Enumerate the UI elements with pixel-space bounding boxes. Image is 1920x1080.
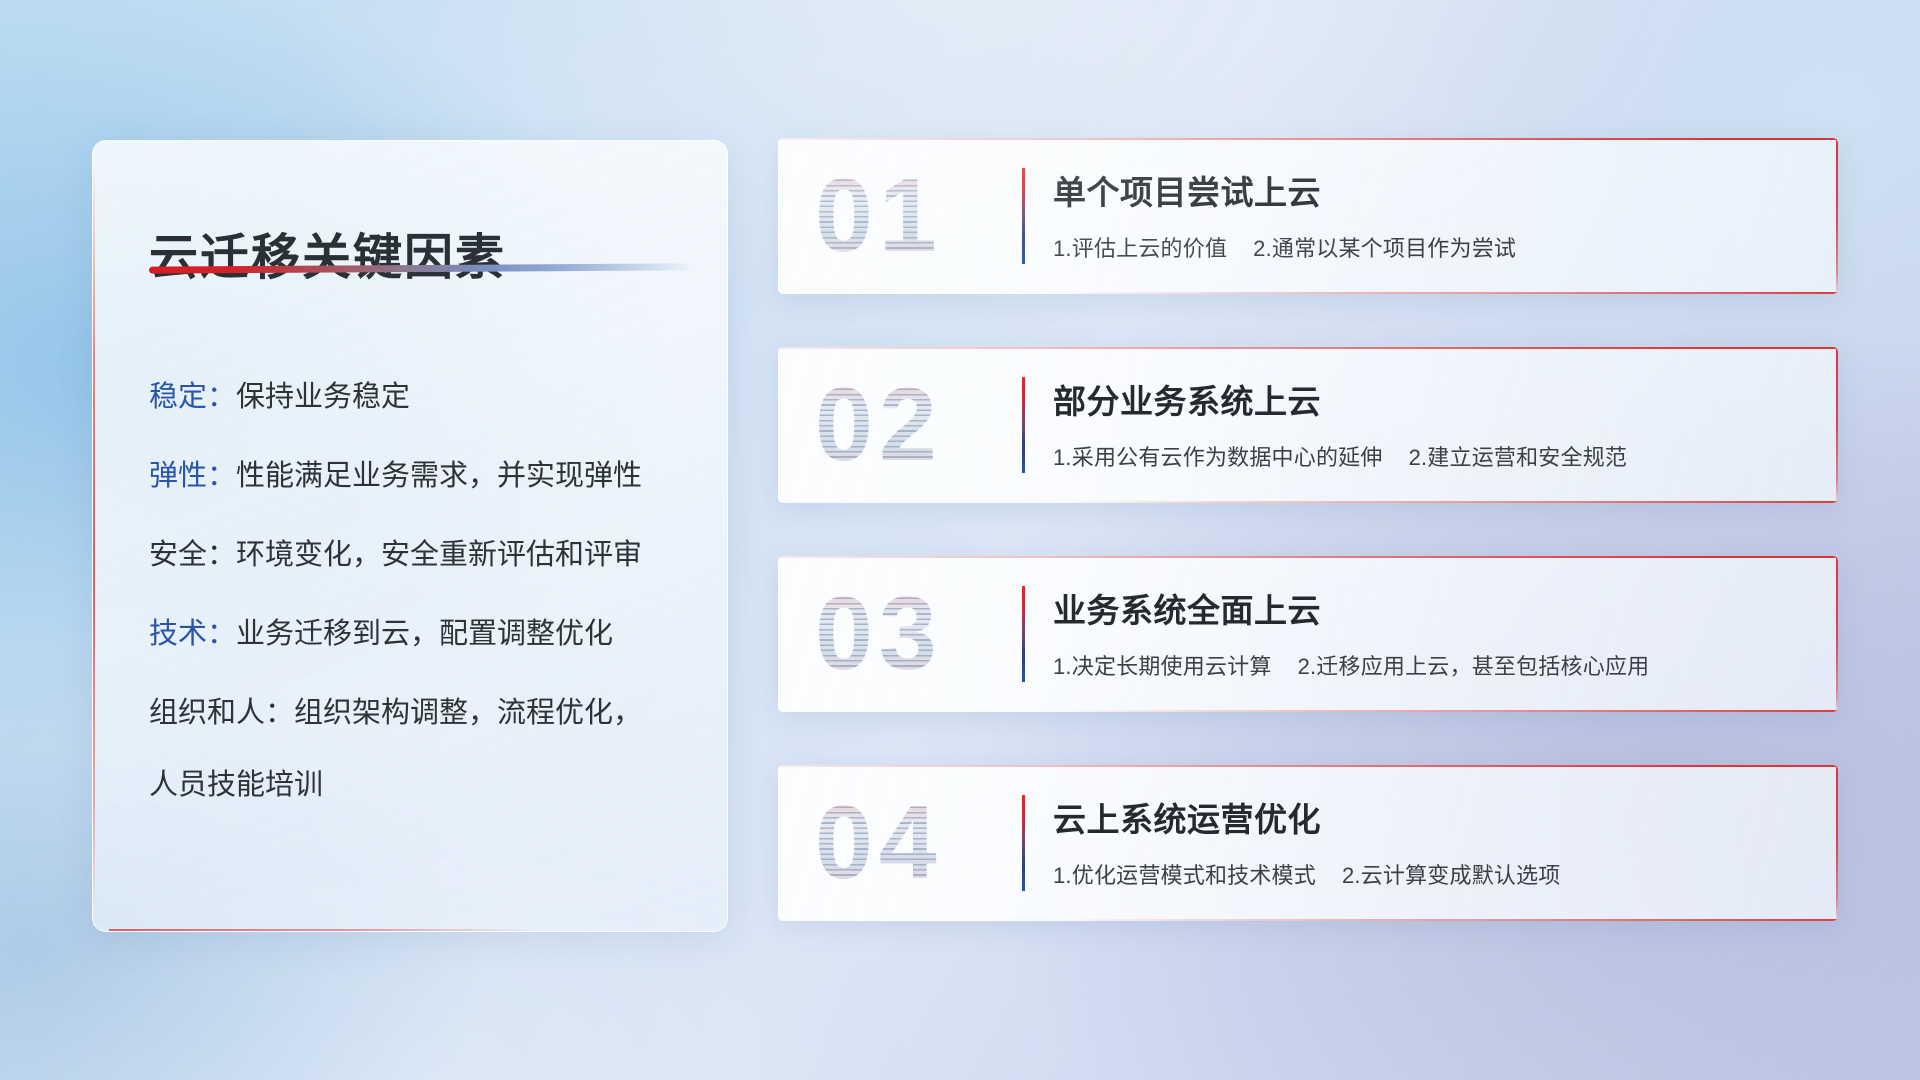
card-bottom-accent-line [1054, 501, 1838, 503]
factor-value: 环境变化，安全重新评估和评审 [236, 539, 642, 571]
card-divider-bar [1022, 795, 1025, 891]
factor-label: 稳定： [149, 381, 236, 413]
stage-point-2: 2.通常以某个项目作为尝试 [1253, 236, 1516, 261]
stage-card-01[interactable]: 01 单个项目尝试上云 1.评估上云的价值2.通常以某个项目作为尝试 [778, 138, 1838, 294]
card-top-accent-line [779, 138, 1838, 140]
key-factors-panel: 云迁移关键因素 稳定：保持业务稳定 弹性：性能满足业务需求，并实现弹性 安全：环… [92, 140, 728, 932]
panel-bottom-accent-bar [109, 929, 537, 931]
factor-label: 安全： [149, 539, 236, 571]
stage-point-2: 2.迁移应用上云，甚至包括核心应用 [1298, 654, 1650, 679]
factor-item-elasticity: 弹性：性能满足业务需求，并实现弹性 [149, 458, 697, 495]
stage-number-02: 02 [815, 373, 943, 477]
stage-title: 业务系统全面上云 [1053, 584, 1810, 632]
stage-points: 1.决定长期使用云计算2.迁移应用上云，甚至包括核心应用 [1053, 649, 1810, 681]
card-right-accent-line [1836, 765, 1838, 921]
factor-value: 组织架构调整，流程优化， [294, 697, 642, 729]
stage-point-1: 1.采用公有云作为数据中心的延伸 [1053, 445, 1383, 470]
stage-card-04[interactable]: 04 云上系统运营优化 1.优化运营模式和技术模式2.云计算变成默认选项 [778, 765, 1838, 921]
card-body: 单个项目尝试上云 1.评估上云的价值2.通常以某个项目作为尝试 [1053, 166, 1810, 263]
card-top-accent-line [779, 765, 1838, 767]
card-divider-bar [1022, 377, 1025, 473]
card-top-accent-line [779, 556, 1838, 558]
card-right-accent-line [1836, 347, 1838, 503]
stage-points: 1.采用公有云作为数据中心的延伸2.建立运营和安全规范 [1053, 440, 1810, 472]
factor-value: 保持业务稳定 [236, 381, 410, 413]
card-divider-bar [1022, 586, 1025, 682]
factor-item-security: 安全：环境变化，安全重新评估和评审 [149, 537, 697, 574]
stage-number-03: 03 [815, 582, 943, 686]
page-title: 云迁移关键因素 [149, 218, 506, 289]
stage-point-2: 2.建立运营和安全规范 [1409, 445, 1628, 470]
card-bottom-accent-line [1054, 919, 1838, 921]
card-right-accent-line [1836, 138, 1838, 294]
stage-points: 1.优化运营模式和技术模式2.云计算变成默认选项 [1053, 858, 1810, 890]
card-bottom-accent-line [1054, 292, 1838, 294]
stage-points: 1.评估上云的价值2.通常以某个项目作为尝试 [1053, 231, 1810, 263]
stage-point-2: 2.云计算变成默认选项 [1342, 863, 1561, 888]
factor-item-stability: 稳定：保持业务稳定 [149, 379, 697, 416]
stage-card-03[interactable]: 03 业务系统全面上云 1.决定长期使用云计算2.迁移应用上云，甚至包括核心应用 [778, 556, 1838, 712]
factor-label: 技术： [149, 618, 236, 650]
stage-title: 部分业务系统上云 [1053, 375, 1810, 423]
card-top-accent-line [779, 347, 1838, 349]
stage-number-04: 04 [815, 791, 943, 895]
card-body: 部分业务系统上云 1.采用公有云作为数据中心的延伸2.建立运营和安全规范 [1053, 375, 1810, 472]
factor-item-technology: 技术：业务迁移到云，配置调整优化 [149, 616, 697, 653]
stage-point-1: 1.评估上云的价值 [1053, 236, 1227, 261]
card-body: 云上系统运营优化 1.优化运营模式和技术模式2.云计算变成默认选项 [1053, 793, 1810, 890]
card-body: 业务系统全面上云 1.决定长期使用云计算2.迁移应用上云，甚至包括核心应用 [1053, 584, 1810, 681]
factor-label: 弹性： [149, 460, 236, 492]
card-divider-bar [1022, 168, 1025, 264]
stage-title: 云上系统运营优化 [1053, 793, 1810, 841]
stage-point-1: 1.优化运营模式和技术模式 [1053, 863, 1316, 888]
stage-title: 单个项目尝试上云 [1053, 166, 1810, 214]
slide-canvas: 云迁移关键因素 稳定：保持业务稳定 弹性：性能满足业务需求，并实现弹性 安全：环… [0, 0, 1920, 1080]
factor-item-organization-people: 组织和人：组织架构调整，流程优化， [149, 695, 697, 732]
factor-value: 业务迁移到云，配置调整优化 [236, 618, 613, 650]
stage-point-1: 1.决定长期使用云计算 [1053, 654, 1272, 679]
factor-list: 稳定：保持业务稳定 弹性：性能满足业务需求，并实现弹性 安全：环境变化，安全重新… [149, 379, 697, 804]
factor-item-organization-people-continued: 人员技能培训 [149, 767, 697, 804]
factor-label: 组织和人： [149, 697, 294, 729]
stage-number-01: 01 [815, 164, 943, 268]
panel-left-accent-bar [93, 167, 95, 909]
migration-stage-cards: 01 单个项目尝试上云 1.评估上云的价值2.通常以某个项目作为尝试 02 部分… [778, 138, 1838, 921]
factor-value: 性能满足业务需求，并实现弹性 [236, 460, 642, 492]
card-right-accent-line [1836, 556, 1838, 712]
stage-card-02[interactable]: 02 部分业务系统上云 1.采用公有云作为数据中心的延伸2.建立运营和安全规范 [778, 347, 1838, 503]
card-bottom-accent-line [1054, 710, 1838, 712]
